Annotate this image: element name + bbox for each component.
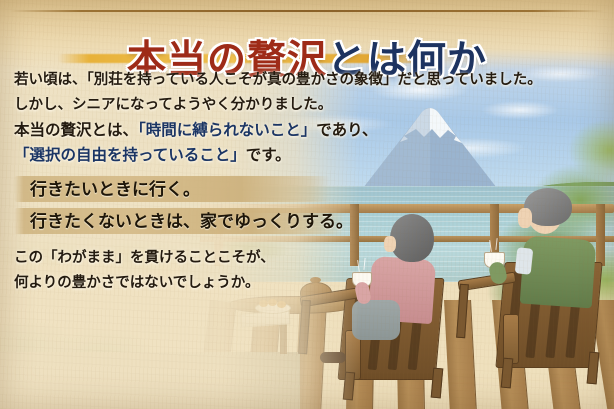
poster-canvas: 本当の贅沢とは何か 若い頃は、「別荘を持っている人こそが真の豊かさの象徴」だと思… [0,0,614,409]
emphasis-statement-2: 行きたくないときは、家でゆっくりする。 [30,210,353,233]
paragraph-closing: この「わがまま」を貫けることこそが、 何よりの豊かさではないでしょうか。 [14,246,275,296]
paragraph-closing-line-2: 何よりの豊かさではないでしょうか。 [14,271,275,296]
paragraph-intro-line-1: 若い頃は、「別荘を持っている人こそが真の豊かさの象徴」だと思っていました。 [14,68,542,93]
top-divider-line [10,10,604,12]
paragraph-intro: 若い頃は、「別荘を持っている人こそが真の豊かさの象徴」だと思っていました。 しか… [14,68,542,118]
definition-line2-post: です。 [246,147,291,164]
definition-line2-quote: 「選択の自由を持っていること」 [14,147,246,164]
paragraph-definition-line-2: 「選択の自由を持っていること」です。 [14,143,378,168]
paragraph-intro-line-2: しかし、シニアになってようやく分かりました。 [14,93,542,118]
definition-line1-post: であり、 [316,122,377,139]
emphasis-1-text: 行きたいときに行く。 [30,178,200,201]
definition-line1-pre: 本当の贅沢とは、 [14,122,138,139]
paragraph-closing-line-1: この「わがまま」を貫けることこそが、 [14,246,275,271]
emphasis-2-text: 行きたくないときは、家でゆっくりする。 [30,210,353,233]
emphasis-statement-1: 行きたいときに行く。 [30,178,200,201]
paragraph-definition-line-1: 本当の贅沢とは、「時間に縛られないこと」であり、 [14,118,378,143]
paragraph-definition: 本当の贅沢とは、「時間に縛られないこと」であり、 「選択の自由を持っていること」… [14,118,378,168]
definition-line1-quote: 「時間に縛られないこと」 [138,122,316,139]
